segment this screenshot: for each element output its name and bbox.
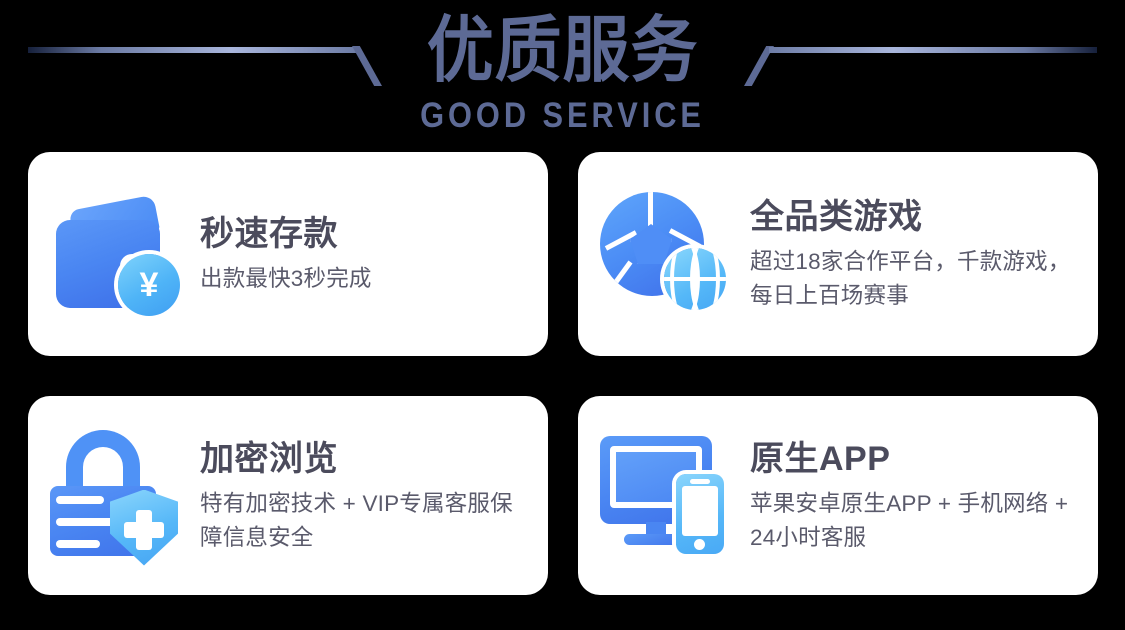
feature-card-deposit[interactable]: ¥ 秒速存款 出款最快3秒完成 [28,152,548,356]
feature-card-description: 苹果安卓原生APP + 手机网络 + 24小时客服 [750,487,1084,555]
feature-card-native-app[interactable]: 原生APP 苹果安卓原生APP + 手机网络 + 24小时客服 [578,396,1098,595]
feature-card-text: 加密浏览 特有加密技术 + VIP专属客服保障信息安全 [196,437,548,555]
feature-card-title: 秒速存款 [200,212,534,256]
feature-card-encryption[interactable]: 加密浏览 特有加密技术 + VIP专属客服保障信息安全 [28,396,548,595]
feature-card-title: 全品类游戏 [750,195,1084,239]
feature-card-description: 特有加密技术 + VIP专属客服保障信息安全 [200,487,534,555]
feature-card-description: 出款最快3秒完成 [200,262,534,296]
feature-card-grid: ¥ 秒速存款 出款最快3秒完成 [28,152,1098,595]
feature-card-title: 原生APP [750,437,1084,481]
feature-card-description: 超过18家合作平台，千款游戏，每日上百场赛事 [750,245,1084,313]
feature-card-text: 原生APP 苹果安卓原生APP + 手机网络 + 24小时客服 [746,437,1098,555]
monitor-phone-icon [596,426,746,566]
banner-header: 优质服务 GOOD SERVICE [0,0,1125,150]
feature-card-title: 加密浏览 [200,437,534,481]
promo-banner: 优质服务 GOOD SERVICE ¥ 秒速存款 出款最快3秒完成 [0,0,1125,630]
feature-card-text: 全品类游戏 超过18家合作平台，千款游戏，每日上百场赛事 [746,195,1098,313]
page-subtitle: GOOD SERVICE [68,96,1058,136]
page-title: 优质服务 [39,8,1085,94]
feature-card-games[interactable]: 全品类游戏 超过18家合作平台，千款游戏，每日上百场赛事 [578,152,1098,356]
soccer-basketball-icon [596,184,746,324]
wallet-yen-icon: ¥ [46,184,196,324]
yen-symbol: ¥ [118,254,180,316]
lock-shield-icon [46,426,196,566]
feature-card-text: 秒速存款 出款最快3秒完成 [196,212,548,296]
